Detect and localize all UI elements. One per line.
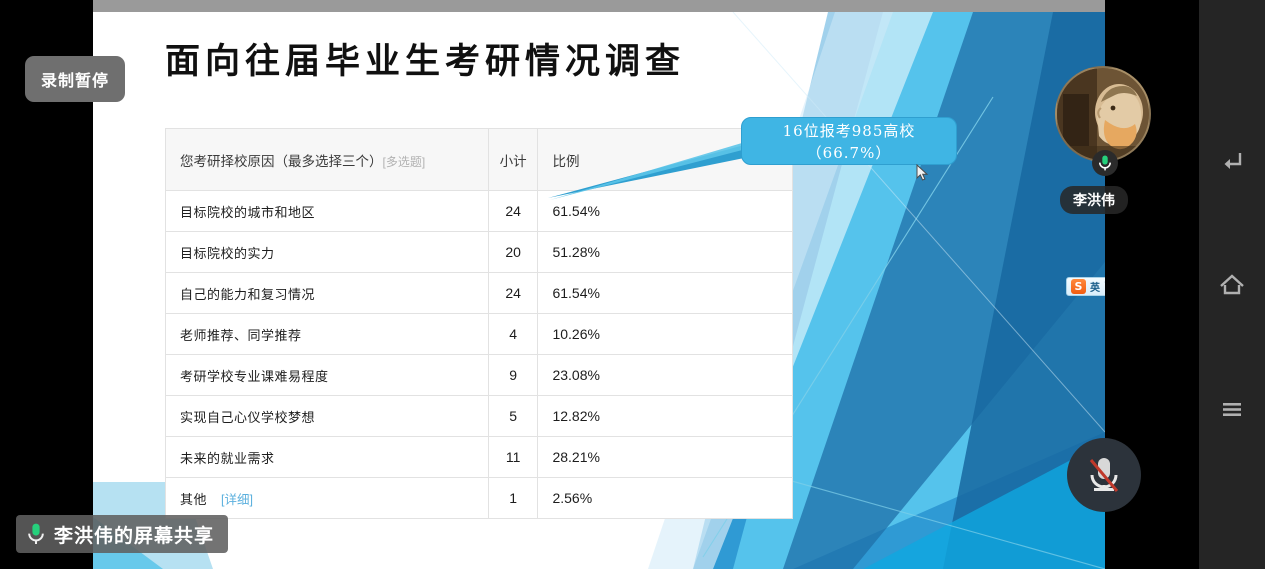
table-row: 考研学校专业课难易程度923.08% <box>166 355 793 396</box>
microphone-muted-icon <box>1087 454 1121 496</box>
cell-ratio: 61.54% <box>538 191 793 232</box>
table-row: 目标院校的城市和地区2461.54% <box>166 191 793 232</box>
conference-screen: 面向往届毕业生考研情况调查 您考研择校原因（最多选择三个）[多选题] 小计 比例… <box>0 0 1265 569</box>
column-header-question-tag: [多选题] <box>383 155 426 169</box>
cell-count: 24 <box>488 191 538 232</box>
sogou-logo-icon[interactable]: S <box>1071 279 1086 294</box>
recording-paused-badge[interactable]: 录制暂停 <box>25 56 125 102</box>
table-body: 目标院校的城市和地区2461.54%目标院校的实力2051.28%自己的能力和复… <box>166 191 793 519</box>
option-label-text: 目标院校的城市和地区 <box>180 206 315 221</box>
slide-title: 面向往届毕业生考研情况调查 <box>165 33 685 84</box>
cell-count: 11 <box>488 437 538 478</box>
cell-count: 5 <box>488 396 538 437</box>
home-icon[interactable] <box>1218 271 1246 299</box>
option-label-text: 未来的就业需求 <box>180 452 275 467</box>
shared-window-titlebar <box>93 0 1105 12</box>
shared-screen-region: 面向往届毕业生考研情况调查 您考研择校原因（最多选择三个）[多选题] 小计 比例… <box>93 0 1105 569</box>
avatar-mic-badge <box>1092 150 1118 176</box>
table-row: 实现自己心仪学校梦想512.82% <box>166 396 793 437</box>
android-navigation-bar <box>1199 0 1265 569</box>
table-row: 目标院校的实力2051.28% <box>166 232 793 273</box>
english-mode-icon[interactable]: 英 <box>1090 279 1100 294</box>
screen-share-status-label: 李洪伟的屏幕共享 <box>54 521 214 548</box>
mouse-cursor-icon <box>916 164 929 182</box>
cell-option-label: 其他[详细] <box>166 478 489 519</box>
menu-lines-icon[interactable] <box>1218 395 1246 423</box>
cell-ratio: 12.82% <box>538 396 793 437</box>
option-label-text: 其他 <box>180 493 207 508</box>
avatar-portrait-icon <box>1057 68 1151 162</box>
cell-option-label: 未来的就业需求 <box>166 437 489 478</box>
cell-count: 1 <box>488 478 538 519</box>
option-label-text: 自己的能力和复习情况 <box>180 288 315 303</box>
callout-line-1: 16位报考985高校 <box>742 120 956 142</box>
cell-ratio: 2.56% <box>538 478 793 519</box>
cell-option-label: 实现自己心仪学校梦想 <box>166 396 489 437</box>
cell-count: 4 <box>488 314 538 355</box>
cell-ratio: 51.28% <box>538 232 793 273</box>
avatar[interactable] <box>1055 66 1151 162</box>
screen-share-status: 李洪伟的屏幕共享 <box>16 515 228 553</box>
table-header: 您考研择校原因（最多选择三个）[多选题] 小计 比例 <box>166 129 793 191</box>
option-label-text: 实现自己心仪学校梦想 <box>180 411 315 426</box>
cell-option-label: 目标院校的实力 <box>166 232 489 273</box>
callout-line-2: （66.7%） <box>742 142 956 164</box>
option-label-text: 目标院校的实力 <box>180 247 275 262</box>
cell-ratio: 28.21% <box>538 437 793 478</box>
cell-ratio: 10.26% <box>538 314 793 355</box>
detail-link[interactable]: [详细] <box>221 493 253 507</box>
table-row: 自己的能力和复习情况2461.54% <box>166 273 793 314</box>
microphone-active-icon <box>1098 154 1112 172</box>
table-row: 老师推荐、同学推荐410.26% <box>166 314 793 355</box>
table-header-row: 您考研择校原因（最多选择三个）[多选题] 小计 比例 <box>166 129 793 191</box>
back-arrow-icon[interactable] <box>1218 147 1246 175</box>
column-header-count: 小计 <box>488 129 538 191</box>
option-label-text: 老师推荐、同学推荐 <box>180 329 302 344</box>
participant-name-badge: 李洪伟 <box>1060 186 1128 214</box>
column-header-question-text: 您考研择校原因（最多选择三个） <box>180 154 383 169</box>
cell-option-label: 自己的能力和复习情况 <box>166 273 489 314</box>
cell-option-label: 老师推荐、同学推荐 <box>166 314 489 355</box>
table-row: 未来的就业需求1128.21% <box>166 437 793 478</box>
table-row: 其他[详细]12.56% <box>166 478 793 519</box>
cell-option-label: 目标院校的城市和地区 <box>166 191 489 232</box>
cell-count: 20 <box>488 232 538 273</box>
cell-count: 9 <box>488 355 538 396</box>
column-header-question: 您考研择校原因（最多选择三个）[多选题] <box>166 129 489 191</box>
microphone-icon <box>27 522 45 546</box>
participant-tile[interactable]: 李洪伟 <box>1055 66 1151 162</box>
cell-ratio: 61.54% <box>538 273 793 314</box>
cell-ratio: 23.08% <box>538 355 793 396</box>
mute-microphone-button[interactable] <box>1067 438 1141 512</box>
cell-count: 24 <box>488 273 538 314</box>
option-label-text: 考研学校专业课难易程度 <box>180 370 329 385</box>
cell-option-label: 考研学校专业课难易程度 <box>166 355 489 396</box>
sogou-ime-toolbar[interactable]: S 英 ˙, <box>1066 277 1105 296</box>
callout-annotation: 16位报考985高校 （66.7%） <box>741 117 957 165</box>
survey-results-table: 您考研择校原因（最多选择三个）[多选题] 小计 比例 目标院校的城市和地区246… <box>165 128 793 519</box>
